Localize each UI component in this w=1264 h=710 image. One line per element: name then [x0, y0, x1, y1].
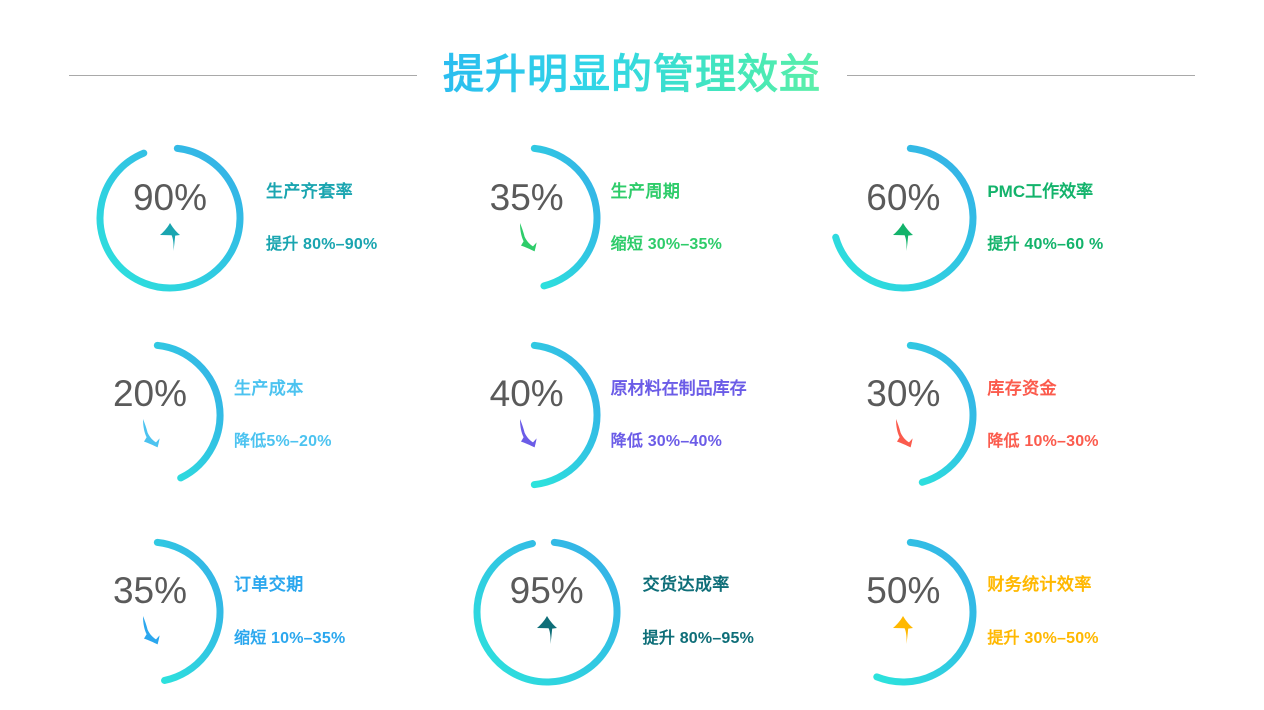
metric-name: 交货达成率: [643, 575, 754, 595]
metric-value: 35%: [113, 572, 187, 609]
gauge-7: 35%: [72, 532, 228, 692]
metric-text: 订单交期 缩短 10%–35%: [234, 575, 345, 648]
metric-name: 订单交期: [234, 575, 345, 595]
metric-name: 生产成本: [234, 379, 332, 399]
metric-delta: 提升 40%–60 %: [987, 235, 1103, 254]
metric-card[interactable]: 60% PMC工作效率 提升 40%–60 %: [825, 120, 1202, 317]
arrow-down-icon: [514, 418, 540, 448]
arrow-down-icon: [890, 418, 916, 448]
metric-delta: 提升 80%–95%: [643, 629, 754, 648]
metric-value: 50%: [866, 572, 940, 609]
metric-card[interactable]: 90% 生产齐套率 提升 80%–90%: [72, 120, 449, 317]
metric-delta: 缩短 30%–35%: [611, 235, 722, 254]
metric-value: 60%: [866, 179, 940, 216]
arrow-down-glyph: [514, 418, 540, 448]
metric-text: 生产周期 缩短 30%–35%: [611, 182, 722, 255]
metric-delta: 提升 30%–50%: [987, 629, 1098, 648]
gauge-readout: 40%: [449, 335, 605, 495]
gauge-9: 50%: [825, 532, 981, 692]
metric-card[interactable]: 95% 交货达成率 提升 80%–95%: [449, 513, 826, 710]
gauge-readout: 35%: [72, 532, 228, 692]
gauge-1: 90%: [92, 138, 248, 298]
gauge-readout: 90%: [92, 138, 248, 298]
metric-value: 30%: [866, 375, 940, 412]
metric-text: 财务统计效率 提升 30%–50%: [987, 575, 1098, 648]
arrow-down-glyph: [514, 222, 540, 252]
metric-name: 库存资金: [987, 379, 1098, 399]
metric-name: PMC工作效率: [987, 182, 1103, 202]
arrow-up-glyph: [890, 222, 916, 252]
arrow-down-icon: [514, 222, 540, 252]
arrow-up-icon: [157, 222, 183, 252]
metrics-grid: 90% 生产齐套率 提升 80%–90% 35% 生产周期 缩短 30%–3: [72, 120, 1202, 710]
metric-name: 生产齐套率: [266, 182, 377, 202]
page-header: 提升明显的管理效益: [0, 40, 1264, 110]
arrow-up-glyph: [157, 222, 183, 252]
arrow-up-glyph: [534, 615, 560, 645]
metric-text: 生产齐套率 提升 80%–90%: [266, 182, 377, 255]
metric-card[interactable]: 50% 财务统计效率 提升 30%–50%: [825, 513, 1202, 710]
gauge-readout: 60%: [825, 138, 981, 298]
arrow-up-icon: [890, 615, 916, 645]
metric-card[interactable]: 35% 订单交期 缩短 10%–35%: [72, 513, 449, 710]
arrow-down-glyph: [890, 418, 916, 448]
metric-value: 40%: [490, 375, 564, 412]
gauge-2: 35%: [449, 138, 605, 298]
metric-delta: 缩短 10%–35%: [234, 629, 345, 648]
header-rule-left: [69, 75, 417, 76]
gauge-6: 30%: [825, 335, 981, 495]
gauge-readout: 50%: [825, 532, 981, 692]
arrow-down-glyph: [137, 615, 163, 645]
arrow-up-icon: [534, 615, 560, 645]
gauge-3: 60%: [825, 138, 981, 298]
arrow-up-glyph: [890, 615, 916, 645]
gauge-8: 95%: [469, 532, 625, 692]
metric-card[interactable]: 30% 库存资金 降低 10%–30%: [825, 317, 1202, 514]
metric-value: 35%: [490, 179, 564, 216]
metric-name: 财务统计效率: [987, 575, 1098, 595]
gauge-readout: 30%: [825, 335, 981, 495]
metric-card[interactable]: 40% 原材料在制品库存 降低 30%–40%: [449, 317, 826, 514]
metric-text: 库存资金 降低 10%–30%: [987, 379, 1098, 452]
metric-card[interactable]: 20% 生产成本 降低5%–20%: [72, 317, 449, 514]
arrow-down-glyph: [137, 418, 163, 448]
header-rule-right: [847, 75, 1195, 76]
arrow-up-icon: [890, 222, 916, 252]
metric-delta: 降低 30%–40%: [611, 432, 747, 451]
metric-delta: 降低5%–20%: [234, 432, 332, 451]
metric-name: 原材料在制品库存: [611, 379, 747, 399]
metric-card[interactable]: 35% 生产周期 缩短 30%–35%: [449, 120, 826, 317]
gauge-4: 20%: [72, 335, 228, 495]
metric-text: 原材料在制品库存 降低 30%–40%: [611, 379, 747, 452]
arrow-down-icon: [137, 418, 163, 448]
gauge-readout: 35%: [449, 138, 605, 298]
metric-delta: 降低 10%–30%: [987, 432, 1098, 451]
metric-value: 90%: [133, 179, 207, 216]
metric-delta: 提升 80%–90%: [266, 235, 377, 254]
metric-value: 20%: [113, 375, 187, 412]
metric-value: 95%: [510, 572, 584, 609]
metric-text: PMC工作效率 提升 40%–60 %: [987, 182, 1103, 255]
metric-text: 生产成本 降低5%–20%: [234, 379, 332, 452]
metric-text: 交货达成率 提升 80%–95%: [643, 575, 754, 648]
gauge-readout: 20%: [72, 335, 228, 495]
metric-name: 生产周期: [611, 182, 722, 202]
gauge-5: 40%: [449, 335, 605, 495]
arrow-down-icon: [137, 615, 163, 645]
gauge-readout: 95%: [469, 532, 625, 692]
page-title: 提升明显的管理效益: [441, 51, 823, 98]
